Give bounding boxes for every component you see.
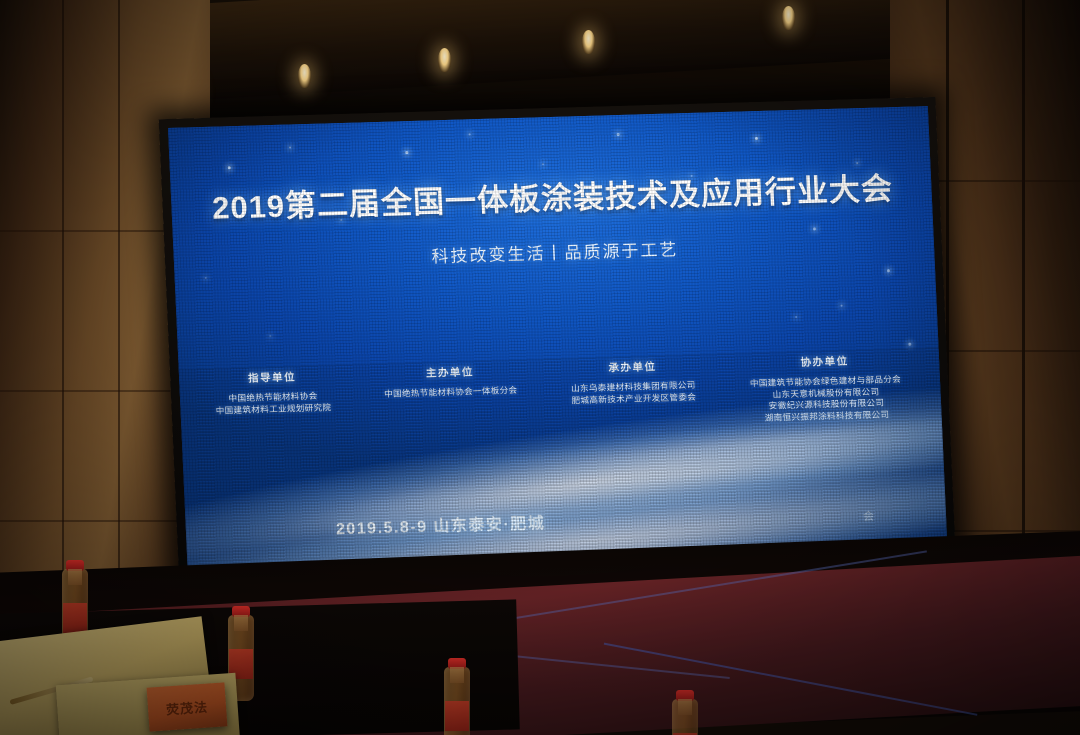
organizer-column-undertaker: 承办单位 山东乌泰建材科技集团有限公司 肥城高新技术产业开发区管委会	[544, 357, 721, 407]
bottle-neck	[234, 615, 248, 631]
organizer-line: 中国绝热节能材料协会一体板分会	[360, 384, 542, 401]
downlight-icon	[582, 30, 595, 54]
bottle-label	[445, 701, 469, 731]
organizer-column-host: 主办单位 中国绝热节能材料协会一体板分会	[355, 362, 546, 401]
water-bottle	[672, 699, 698, 735]
organizer-heading: 承办单位	[548, 357, 716, 377]
conference-subtitle: 科技改变生活丨品质源于工艺	[201, 229, 908, 274]
date-location-text: 2019.5.8-9 山东泰安·肥城	[335, 502, 796, 539]
bottle-neck	[450, 667, 464, 683]
downlight-icon	[438, 48, 451, 72]
wall-seam	[118, 0, 120, 640]
organizer-column-guidance: 指导单位 中国绝热节能材料协会 中国建筑材料工业规划研究院	[189, 368, 357, 418]
organizer-column-coorganizer: 协办单位 中国建筑节能协会绿色建材与部品分会 山东天意机械股份有限公司 安徽纪兴…	[720, 351, 932, 425]
floor-light-streak	[604, 643, 978, 716]
bottle-neck	[678, 699, 692, 715]
bottle-label	[63, 603, 87, 633]
bottle-neck	[68, 569, 82, 585]
organizer-columns: 指导单位 中国绝热节能材料协会 中国建筑材料工业规划研究院 主办单位 中国绝热节…	[189, 351, 932, 440]
organizer-heading: 主办单位	[359, 362, 541, 382]
downlight-icon	[298, 64, 311, 88]
downlight-icon	[782, 6, 795, 30]
conference-hall-scene: 2019第二届全国一体板涂装技术及应用行业大会 科技改变生活丨品质源于工艺 指导…	[0, 0, 1080, 735]
placard-text: 荧茂法	[165, 696, 208, 718]
conference-title: 2019第二届全国一体板涂装技术及应用行业大会	[198, 163, 906, 228]
wall-seam	[62, 0, 64, 640]
water-bottle	[444, 667, 470, 735]
name-placard: 荧茂法	[147, 682, 228, 731]
organizer-heading: 指导单位	[193, 368, 351, 388]
ghost-text: 会	[863, 508, 875, 524]
organizer-heading: 协办单位	[724, 351, 926, 372]
